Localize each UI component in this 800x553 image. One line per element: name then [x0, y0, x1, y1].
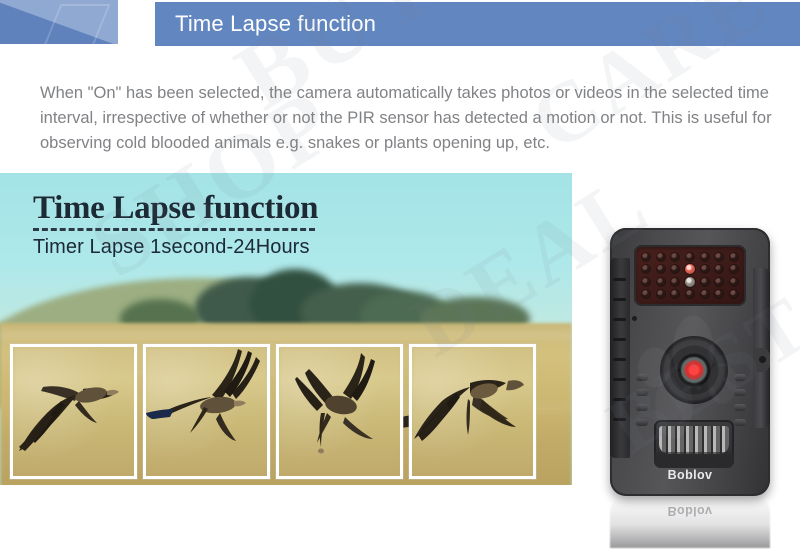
ir-led: [715, 265, 723, 273]
ir-led: [730, 290, 738, 298]
scene-caption: Time Lapse function Timer Lapse 1second-…: [33, 190, 318, 259]
ir-led: [701, 290, 709, 298]
scene-caption-main: Time Lapse function: [33, 190, 318, 226]
ir-led: [730, 278, 738, 286]
ir-led: [642, 290, 650, 298]
light-sensor: [685, 277, 695, 287]
ir-led: [701, 265, 709, 273]
thumbnail-item[interactable]: [10, 344, 137, 479]
camera-latch: [753, 268, 770, 428]
lens-red-glow: [681, 357, 707, 383]
thumbnail-item[interactable]: [409, 344, 536, 479]
header-title-bar: Time Lapse function: [155, 2, 800, 46]
intro-paragraph: When "On" has been selected, the camera …: [40, 81, 780, 156]
thumbnail-item[interactable]: [143, 344, 270, 479]
ir-led: [671, 278, 679, 286]
ir-led: [671, 253, 679, 261]
camera-brand-label: Boblov: [610, 468, 770, 482]
scene-caption-rule: [33, 228, 315, 231]
header-accent-block: [0, 0, 118, 44]
eagle-silhouette-icon: [13, 347, 137, 479]
ir-led: [657, 253, 665, 261]
thumbnail-strip: [10, 344, 536, 479]
ir-led: [671, 265, 679, 273]
ir-led: [642, 265, 650, 273]
camera-reflection-brand-label: Boblov: [610, 504, 770, 518]
camera-grip-ridges: [636, 374, 648, 434]
ir-led: [730, 265, 738, 273]
page-header: Time Lapse function: [0, 0, 800, 47]
ir-led: [686, 253, 694, 261]
camera-grip-ridges: [734, 374, 746, 434]
ir-led: [715, 290, 723, 298]
ir-led: [642, 278, 650, 286]
scene-field-streak: [0, 331, 572, 339]
eagle-silhouette-icon: [279, 347, 403, 479]
camera-lens: [660, 336, 728, 404]
page-title: Time Lapse function: [155, 11, 376, 37]
ir-led: [657, 290, 665, 298]
ir-led: [642, 253, 650, 261]
ir-led: [715, 253, 723, 261]
motion-indicator-led: [685, 264, 695, 274]
camera-lock-eyelet: [755, 348, 770, 372]
camera-hinge: [610, 258, 630, 458]
trail-camera-product-image: Boblov Boblov: [596, 228, 786, 518]
thumbnail-item[interactable]: [276, 344, 403, 479]
ir-led: [671, 290, 679, 298]
eagle-silhouette-icon: [412, 347, 536, 479]
ir-led: [701, 278, 709, 286]
ir-led: [657, 278, 665, 286]
pir-motion-sensor: [654, 420, 734, 468]
camera-body: Boblov: [610, 228, 770, 496]
infrared-led-panel: [634, 245, 746, 306]
pir-fresnel-lens: [659, 426, 729, 454]
ir-led: [657, 265, 665, 273]
ir-led: [701, 253, 709, 261]
scene-caption-sub: Timer Lapse 1second-24Hours: [33, 236, 318, 259]
microphone-hole: [632, 316, 637, 321]
ir-led: [715, 278, 723, 286]
eagle-silhouette-icon: [146, 347, 270, 479]
ir-led: [730, 253, 738, 261]
ir-led: [686, 290, 694, 298]
